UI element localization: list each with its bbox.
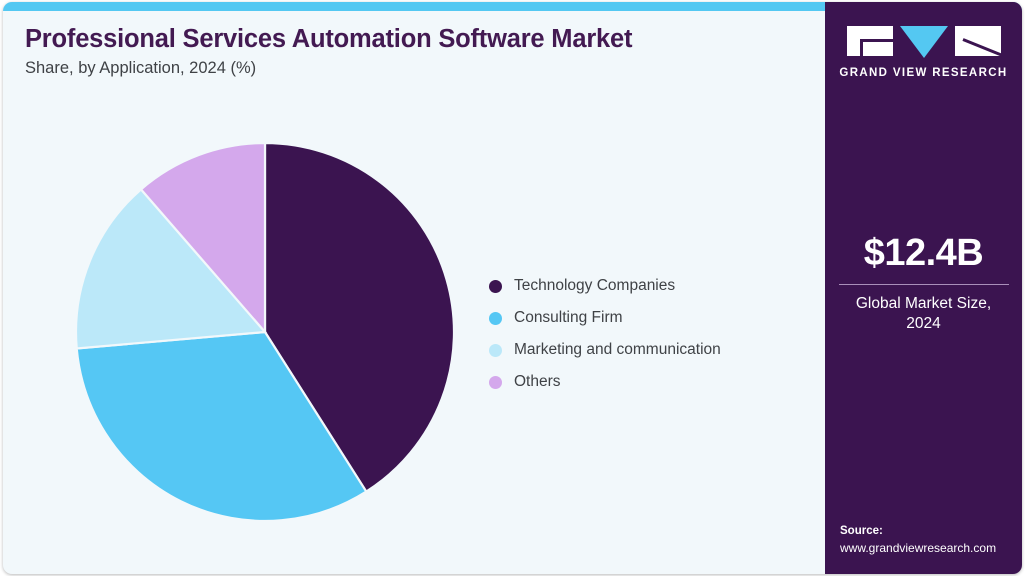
- chart-legend: Technology Companies Consulting Firm Mar…: [489, 270, 809, 398]
- pie-chart: [75, 142, 455, 522]
- brand-logo: GRAND VIEW RESEARCH: [825, 26, 1022, 79]
- logo-g-icon: [847, 26, 893, 56]
- stat-value: $12.4B: [825, 234, 1022, 272]
- source-url[interactable]: www.grandviewresearch.com: [840, 540, 1020, 556]
- legend-label-3: Others: [514, 373, 561, 391]
- legend-swatch-icon-2: [489, 344, 502, 357]
- legend-item-technology-companies[interactable]: Technology Companies: [489, 270, 809, 302]
- logo-marks: [825, 26, 1022, 56]
- pie-chart-svg: [75, 142, 455, 522]
- infographic-card: Professional Services Automation Softwar…: [3, 2, 1022, 574]
- stat-label: Global Market Size, 2024: [825, 294, 1022, 334]
- legend-item-consulting-firm[interactable]: Consulting Firm: [489, 302, 809, 334]
- logo-r-icon: [955, 26, 1001, 56]
- legend-swatch-icon-0: [489, 280, 502, 293]
- stat-divider: [839, 284, 1009, 285]
- infographic-root: Professional Services Automation Softwar…: [0, 0, 1025, 576]
- legend-swatch-icon-1: [489, 312, 502, 325]
- logo-wordmark: GRAND VIEW RESEARCH: [825, 67, 1022, 79]
- pie-slice-group: [76, 143, 454, 521]
- source-block: Source: www.grandviewresearch.com: [840, 524, 1020, 556]
- plot-area: Technology Companies Consulting Firm Mar…: [3, 102, 823, 572]
- legend-label-0: Technology Companies: [514, 277, 675, 295]
- source-title: Source:: [840, 524, 1020, 540]
- legend-item-marketing-and-communication[interactable]: Marketing and communication: [489, 334, 809, 366]
- legend-item-others[interactable]: Others: [489, 366, 809, 398]
- logo-v-triangle-icon: [900, 26, 948, 58]
- brand-sidebar: GRAND VIEW RESEARCH $12.4B Global Market…: [825, 2, 1022, 574]
- market-size-stat: $12.4B Global Market Size, 2024: [825, 234, 1022, 334]
- page-subtitle: Share, by Application, 2024 (%): [25, 59, 805, 79]
- legend-label-1: Consulting Firm: [514, 309, 623, 327]
- legend-label-2: Marketing and communication: [514, 341, 721, 359]
- page-title: Professional Services Automation Softwar…: [25, 25, 805, 54]
- header: Professional Services Automation Softwar…: [25, 25, 805, 79]
- legend-swatch-icon-3: [489, 376, 502, 389]
